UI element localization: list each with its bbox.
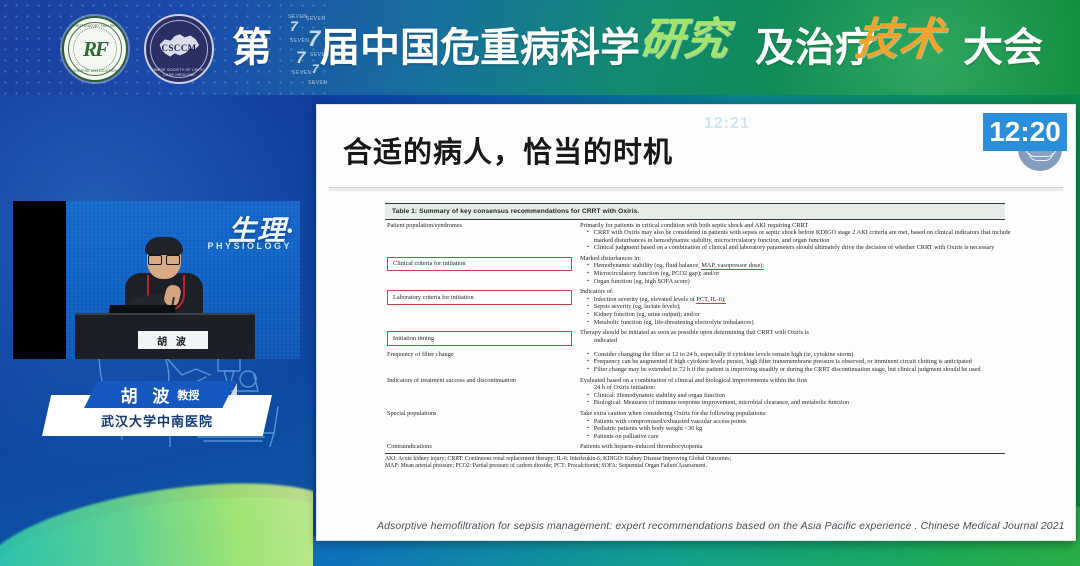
row-label-cell: Special populations: [385, 408, 578, 441]
table-row: Patient population/syndromes Primarily f…: [385, 220, 1015, 253]
banner-title-part3: 大会: [963, 24, 1043, 72]
screenshot-root: RESPIRATORY FAILURE RF CHINESE ASSOCIATI…: [0, 0, 1080, 566]
row-label-cell: Initiation timing: [385, 328, 578, 350]
row-bullet: Patients on palliative care: [580, 433, 1015, 441]
nameplate-ribbon: 胡 波 教授: [84, 381, 236, 408]
table-row: Initiation timing Therapy should be init…: [385, 328, 1015, 350]
row-content-cell: Take extra caution when considering Oxir…: [578, 408, 1015, 441]
rf-association-logo: RESPIRATORY FAILURE RF CHINESE ASSOCIATI…: [62, 16, 128, 82]
banner-title-part1: 届中国危重病科学: [320, 24, 640, 72]
underlined-phrase: PCT, IL-6);: [696, 296, 725, 304]
row-label-cell: Frequency of filter change: [385, 349, 578, 375]
row-bullet: Kidney function (eg, urine output); and/…: [580, 311, 1015, 319]
row-content-cell: Indicators of: Infection severity (eg, e…: [578, 287, 1015, 328]
row-label: Patient population/syndromes: [387, 222, 462, 230]
row-label-highlighted: Clinical criteria for initiation: [387, 257, 572, 272]
row-content-cell: Marked disturbances in: Hemodynamic stab…: [578, 253, 1015, 286]
timestamp-value: 12:20: [989, 116, 1061, 148]
row-lead-text: Therapy should be initiated as soon as p…: [580, 329, 1015, 337]
row-content-cell: Evaluated based on a combination of clin…: [578, 375, 1015, 408]
csccm-logo: CSCCM CHINESE SOCIETY OF CRITICAL CARE M…: [144, 14, 214, 84]
speaker-organization: 武汉大学中南医院: [42, 411, 272, 430]
rf-logo-bottom-text: CHINESE ASSOCIATION: [64, 69, 126, 73]
row-bullet: Filter change may be extended to 72 h if…: [580, 366, 1015, 374]
footnote-line-2: MAP: Mean arterial pressure; PCO2: Parti…: [385, 463, 1005, 470]
row-bullet: Biological: Measures of immune response …: [580, 399, 1015, 407]
row-label: Contraindications: [387, 443, 432, 451]
row-content-cell: Primarily for patients in critical condi…: [578, 220, 1015, 253]
row-label-cell: Laboratory criteria for initiation: [385, 287, 578, 328]
row-label-cell: Patient population/syndromes: [385, 220, 578, 253]
row-lead-text: Patients with heparin-induced thrombocyt…: [580, 443, 1015, 451]
row-lead-continuation: indicated: [580, 337, 1015, 345]
row-bullet-underlined: Infection severity (eg, elevated levels …: [580, 296, 1015, 304]
podium-nameplate: 胡 波: [138, 331, 208, 349]
seven-digit-3: 7: [296, 48, 305, 68]
row-content-cell: Consider changing the filter at 12 to 24…: [578, 349, 1015, 375]
row-bullet: Frequency can be augmented if high cytok…: [580, 358, 1015, 366]
row-bullet: Sepsis severity (eg, lactate levels);: [580, 303, 1015, 311]
row-bullet: Clinical: Hemodynamic stability and orga…: [580, 392, 1015, 400]
row-lead-continuation: 24 h of Oxiris initiation:: [580, 384, 1015, 392]
csccm-logo-arc-text: CHINESE SOCIETY OF CRITICAL CARE MEDICIN…: [146, 67, 212, 77]
table-row: Contraindications Patients with heparin-…: [385, 442, 1015, 453]
banner-title-main: 中国危重病科学: [360, 26, 640, 70]
glasses-icon: [148, 254, 180, 263]
row-bullet: Organ function (eg, high SOFA score): [580, 278, 1015, 286]
table-row: Frequency of filter change Consider chan…: [385, 349, 1015, 375]
row-label: Frequency of filter change: [387, 351, 454, 359]
row-content-cell: Therapy should be initiated as soon as p…: [578, 328, 1015, 350]
corner-logo-arc-inner: [1029, 153, 1053, 161]
speaker-hair: [145, 237, 183, 254]
presentation-slide[interactable]: 12:21 12:20 合适的病人，恰当的时机 Table 1: Summary…: [316, 104, 1076, 541]
row-bullet: Pediatric patients with body weight <30 …: [580, 425, 1015, 433]
row-bullet-underlined: Hemodynamic stability (eg, fluid balance…: [580, 262, 1015, 270]
table-row: Special populations Take extra caution w…: [385, 408, 1015, 441]
slide-ghost-timestamp: 12:21: [704, 115, 750, 133]
row-label: Special populations: [387, 410, 437, 418]
row-bullet: Patients with compromised/exhausted vasc…: [580, 418, 1015, 426]
backdrop-slogan-english: PHYSIOLOGY: [207, 241, 292, 251]
csccm-logo-acronym: CSCCM: [146, 43, 212, 53]
banner-edition-prefix: 第: [232, 24, 272, 72]
row-lead-text: Marked disturbances in:: [580, 255, 1015, 263]
row-label-highlighted: Laboratory criteria for initiation: [387, 290, 572, 305]
timestamp-badge: 12:20: [983, 113, 1067, 151]
row-bullet: Metabolic function (eg, life-threatening…: [580, 319, 1015, 327]
slide-citation: Adsorptive hemofiltration for sepsis man…: [377, 520, 1061, 532]
seven-word-5: SEVEN: [292, 70, 311, 76]
row-content-cell: Patients with heparin-induced thrombocyt…: [578, 442, 1015, 453]
row-label: Indicators of treatment success and disc…: [387, 377, 516, 385]
row-label-cell: Clinical criteria for initiation: [385, 253, 578, 286]
banner-title-technology: 技术: [852, 16, 945, 64]
row-lead-text: Indicators of:: [580, 288, 1015, 296]
seven-word-3: SEVEN: [290, 38, 309, 44]
conference-banner: RESPIRATORY FAILURE RF CHINESE ASSOCIATI…: [0, 0, 1080, 95]
row-label-cell: Contraindications: [385, 442, 578, 453]
row-label-highlighted: Initiation timing: [387, 331, 572, 346]
table-caption: Table 1: Summary of key consensus recomm…: [385, 203, 1005, 220]
row-lead-text: Evaluated based on a combination of clin…: [580, 377, 1015, 385]
table-body: Patient population/syndromes Primarily f…: [385, 220, 1015, 452]
table-row: Clinical criteria for initiation Marked …: [385, 253, 1015, 286]
consensus-table: Table 1: Summary of key consensus recomm…: [385, 203, 1005, 533]
banner-edition-suffix: 届: [320, 26, 360, 70]
speaker-sidebar: 生理· PHYSIOLOGY 胡 波 胡 波 教授 武汉: [0, 95, 313, 566]
row-bullet: Microcirculatory function (eg, PCO2 gap)…: [580, 270, 1015, 278]
row-bullet: Clinical judgment based on a combination…: [580, 244, 1015, 252]
row-label-cell: Indicators of treatment success and disc…: [385, 375, 578, 408]
speaker-video-thumbnail[interactable]: 生理· PHYSIOLOGY 胡 波: [13, 201, 300, 359]
row-bullet: Consider changing the filter at 12 to 24…: [580, 351, 1015, 359]
banner-title-research: 研究: [637, 16, 730, 64]
row-lead-text: Primarily for patients in critical condi…: [580, 222, 1015, 230]
seven-digit-2: 7: [308, 26, 320, 52]
slide-title: 合适的病人，恰当的时机: [343, 129, 673, 171]
table-footnote: AKI: Acute kidney injury; CRRT: Continuo…: [385, 453, 1005, 470]
row-lead-text: Take extra caution when considering Oxir…: [580, 410, 1015, 418]
seven-word-2: SEVEN: [306, 16, 325, 22]
seven-digit-1: 7: [290, 18, 298, 34]
row-bullet: CRRT with Oxiris may also be considered …: [580, 229, 1015, 244]
speaker-nameplate: 胡 波 教授 武汉大学中南医院: [42, 381, 272, 436]
speaker-title: 教授: [177, 387, 199, 403]
table-row: Laboratory criteria for initiation Indic…: [385, 287, 1015, 328]
table-row: Indicators of treatment success and disc…: [385, 375, 1015, 408]
speaker-name: 胡 波: [121, 382, 175, 407]
slide-title-divider: [329, 187, 1063, 191]
seven-word-6: SEVEN: [308, 80, 327, 86]
seven-digit-4: 7: [312, 62, 319, 76]
